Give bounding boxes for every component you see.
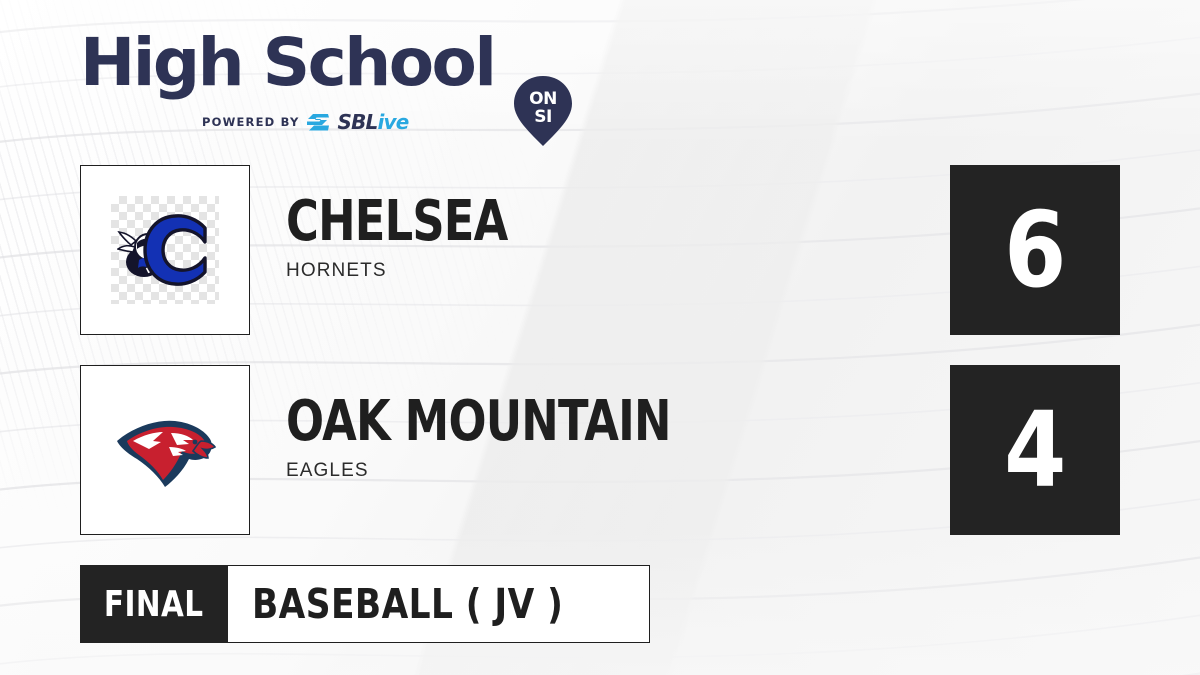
team-score: 6 [1004, 198, 1066, 302]
team-logo-transparency-backdrop [111, 196, 219, 304]
sport-label-box: BASEBALL ( JV ) [228, 565, 650, 643]
team-name: CHELSEA [286, 195, 782, 250]
team-score: 4 [1004, 398, 1066, 502]
sblive-wordmark: SBLive [337, 112, 408, 132]
sblive-word-accent: ive [377, 110, 408, 134]
oak-mountain-eagles-logo-icon [113, 411, 217, 489]
scoreboard-graphic: High School ON SI POWERED BY SBLive [0, 0, 1200, 675]
team-row: CHELSEA HORNETS 6 [0, 165, 1200, 335]
chelsea-hornets-logo-icon [117, 202, 213, 298]
team-name: OAK MOUNTAIN [286, 395, 782, 450]
powered-by-lockup: POWERED BY SBLive [202, 112, 409, 132]
team-row: OAK MOUNTAIN EAGLES 4 [0, 365, 1200, 535]
sblive-word-dark: SBL [337, 110, 377, 134]
team-mascot: EAGLES [286, 460, 906, 482]
sblive-s-mark-icon [306, 113, 330, 132]
on-si-pin-icon: ON SI [512, 74, 574, 153]
team-logo-box [80, 165, 250, 335]
team-text-block: OAK MOUNTAIN EAGLES [286, 395, 906, 482]
pin-label-on: ON [529, 89, 557, 109]
status-badge-label: FINAL [104, 584, 204, 625]
brand-logo: High School ON SI POWERED BY SBLive [80, 36, 520, 136]
status-badge: FINAL [80, 565, 228, 643]
team-logo-backdrop [111, 396, 219, 504]
pin-label-si: SI [534, 107, 552, 127]
sport-label: BASEBALL ( JV ) [252, 580, 563, 628]
powered-by-label: POWERED BY [202, 115, 299, 129]
team-logo-box [80, 365, 250, 535]
brand-wordmark: High School [80, 30, 495, 96]
team-score-box: 6 [950, 165, 1120, 335]
team-score-box: 4 [950, 365, 1120, 535]
team-mascot: HORNETS [286, 260, 906, 282]
team-text-block: CHELSEA HORNETS [286, 195, 906, 282]
game-status-bar: FINAL BASEBALL ( JV ) [80, 565, 650, 643]
